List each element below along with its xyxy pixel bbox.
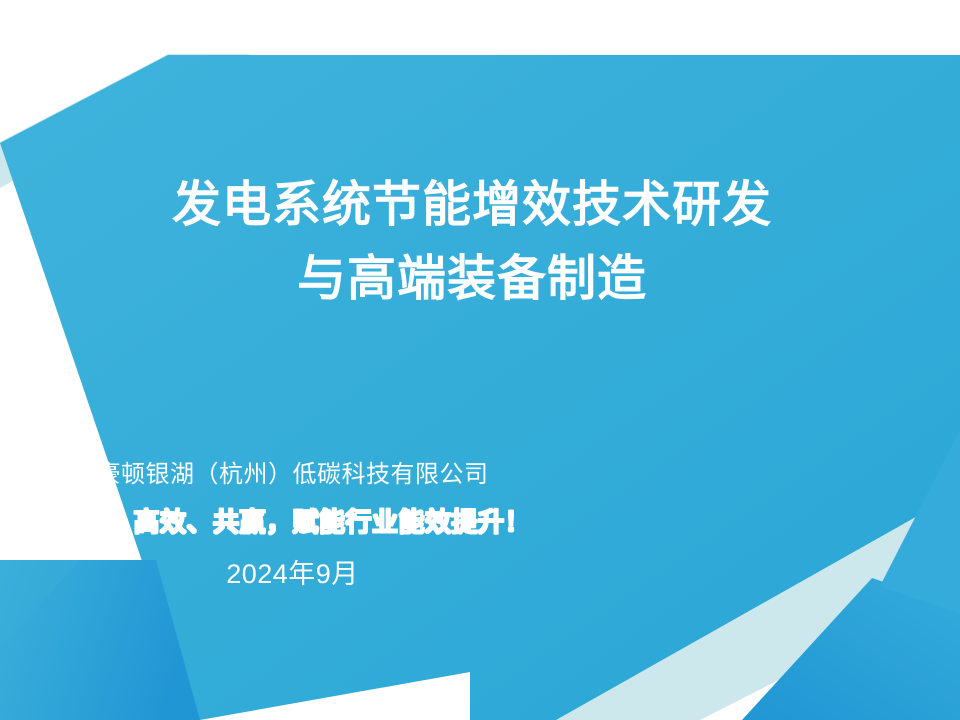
company-name: 豪顿银湖（杭州）低碳科技有限公司	[0, 458, 585, 492]
slide-title: 发电系统节能增效技术研发 与高端装备制造	[0, 168, 944, 316]
slide-footer: 豪顿银湖（杭州）低碳科技有限公司 前沿、高效、共赢，赋能行业能效提升！ 2024…	[0, 458, 585, 592]
company-tagline: 前沿、高效、共赢，赋能行业能效提升！	[0, 502, 585, 542]
title-line-2: 与高端装备制造	[0, 242, 944, 316]
presentation-date: 2024年9月	[0, 556, 585, 592]
title-slide: 发电系统节能增效技术研发 与高端装备制造 豪顿银湖（杭州）低碳科技有限公司 前沿…	[0, 0, 960, 720]
text-layer: 发电系统节能增效技术研发 与高端装备制造 豪顿银湖（杭州）低碳科技有限公司 前沿…	[0, 0, 960, 720]
title-line-1: 发电系统节能增效技术研发	[0, 168, 944, 242]
